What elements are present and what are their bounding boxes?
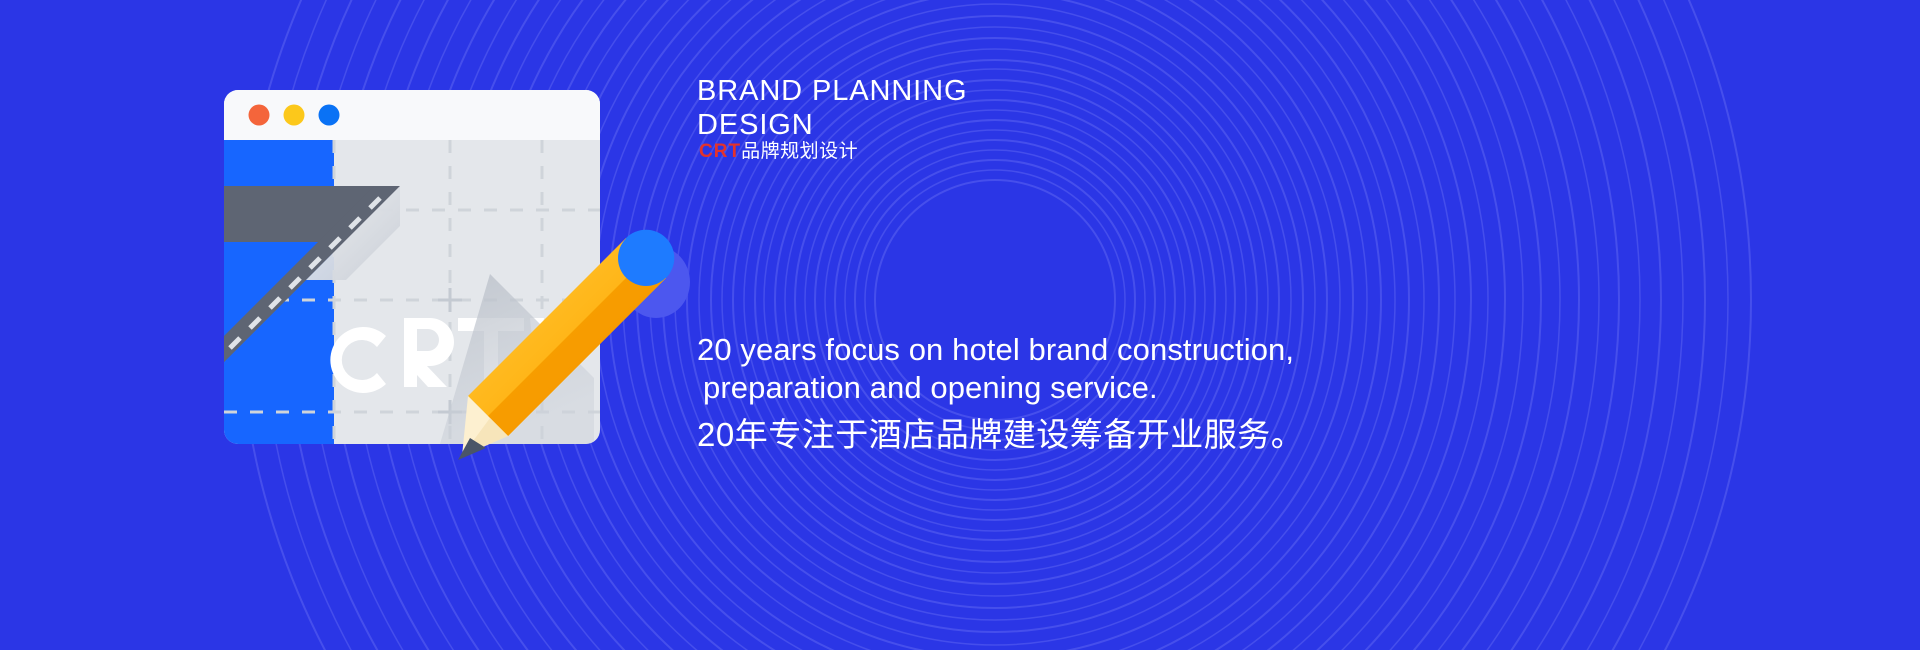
banner-text-column: BRAND PLANNING DESIGN CRT品牌规划设计 20 years…: [697, 0, 1897, 650]
traffic-light-yellow-dot: [284, 105, 305, 126]
brand-banner: BRAND PLANNING DESIGN CRT品牌规划设计 20 years…: [0, 0, 1920, 650]
tagline-chinese: 20年专注于酒店品牌建设筹备开业服务。: [697, 414, 1304, 456]
brand-subheading-cn: 品牌规划设计: [741, 141, 858, 162]
brand-subheading-crt: CRT: [699, 141, 741, 162]
brand-heading: BRAND PLANNING DESIGN: [697, 74, 967, 142]
tagline-english-line1: 20 years focus on hotel brand constructi…: [697, 332, 1294, 367]
tagline-english-line2: preparation and opening service.: [697, 369, 1457, 407]
traffic-light-blue-dot: [319, 105, 340, 126]
brand-subheading: CRT品牌规划设计: [699, 139, 858, 165]
tagline-english: 20 years focus on hotel brand constructi…: [697, 331, 1457, 407]
brand-design-illustration: [190, 82, 690, 582]
traffic-light-red-dot: [249, 105, 270, 126]
